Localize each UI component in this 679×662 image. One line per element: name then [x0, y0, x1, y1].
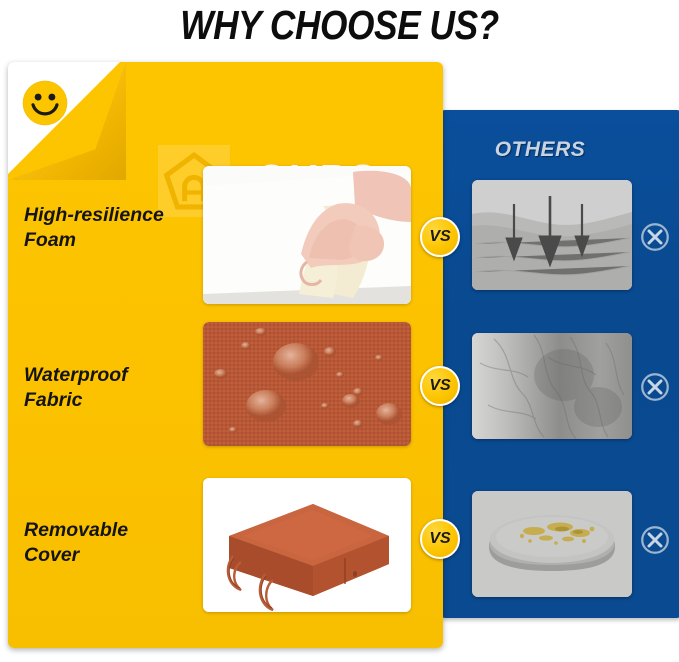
ours-photo-fabric	[203, 322, 411, 446]
others-photo-foam	[472, 180, 632, 290]
feature-label-cover-line2: Cover	[24, 543, 204, 568]
feature-label-fabric-line2: Fabric	[24, 388, 204, 413]
others-heading: OTHERS	[440, 138, 640, 162]
feature-label-foam-line2: Foam	[24, 228, 204, 253]
hand-pinching-foam-illustration	[203, 166, 411, 304]
vs-badge-2: VS	[420, 366, 460, 406]
smiley-face-icon	[22, 80, 68, 126]
feature-label-fabric: Waterproof Fabric	[24, 363, 204, 413]
others-photo-cover	[472, 491, 632, 597]
others-photo-fabric	[472, 333, 632, 439]
water-beading-fabric-illustration	[203, 322, 411, 446]
feature-label-fabric-line1: Waterproof	[24, 363, 204, 388]
circle-x-icon-2	[640, 372, 670, 402]
page-title: WHY CHOOSE US?	[48, 2, 632, 49]
vs-badge-label-2: VS	[422, 368, 458, 403]
ours-photo-foam	[203, 166, 411, 304]
vs-badge-label-3: VS	[422, 521, 458, 556]
vs-badge-3: VS	[420, 519, 460, 559]
feature-label-foam-line1: High-resilience	[24, 203, 204, 228]
stained-gray-cushion-illustration	[472, 491, 632, 597]
feature-label-cover: Removable Cover	[24, 518, 204, 568]
feature-label-cover-line1: Removable	[24, 518, 204, 543]
vs-badge-label-1: VS	[422, 219, 458, 254]
ours-photo-cover	[203, 478, 411, 612]
circle-x-icon-3	[640, 525, 670, 555]
vs-badge-1: VS	[420, 217, 460, 257]
feature-label-foam: High-resilience Foam	[24, 203, 204, 253]
terracotta-cushion-illustration	[203, 478, 411, 612]
sagging-foam-with-arrows-illustration	[472, 180, 632, 290]
wet-gray-fabric-illustration	[472, 333, 632, 439]
circle-x-icon-1	[640, 222, 670, 252]
